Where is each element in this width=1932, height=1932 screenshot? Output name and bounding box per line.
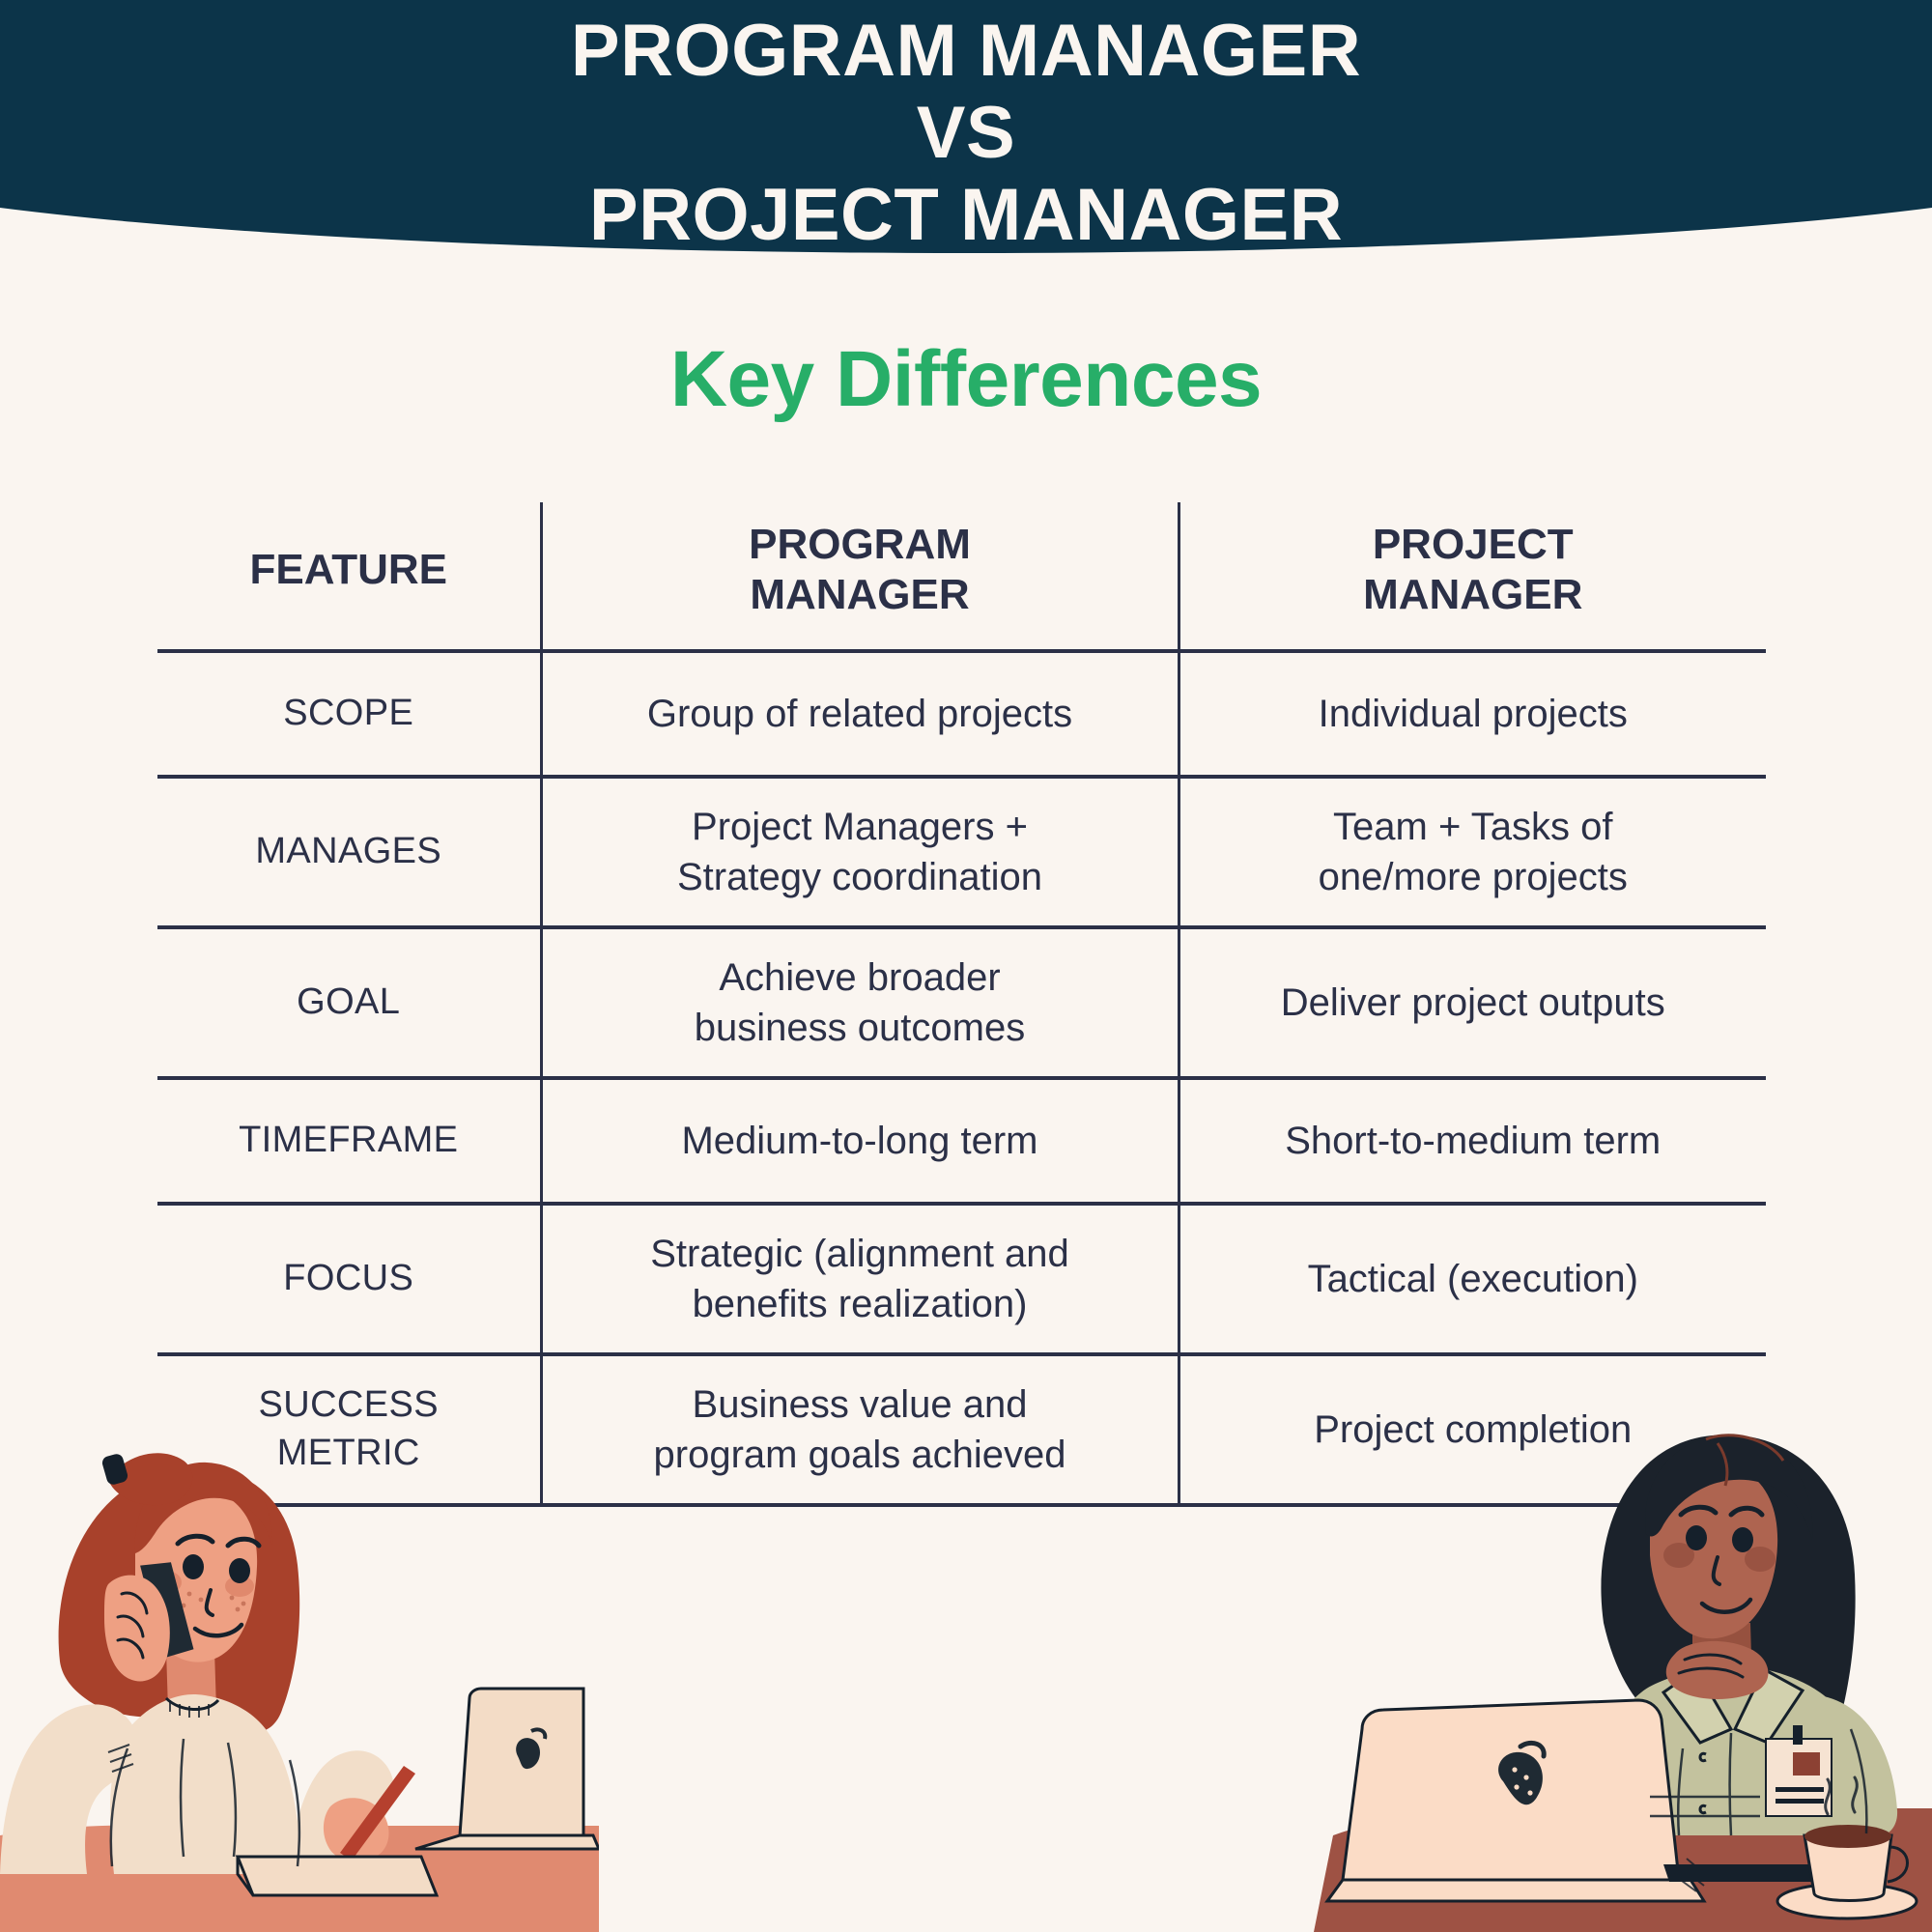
cell-program-manager: Business value and program goals achieve… <box>541 1354 1179 1505</box>
cell-text: benefits realization) <box>556 1279 1164 1329</box>
illustration-woman-at-laptop <box>1314 1410 1932 1932</box>
cell-text: program goals achieved <box>556 1430 1164 1480</box>
cell-feature: MANAGES <box>157 777 541 927</box>
cell-project-manager: Tactical (execution) <box>1179 1204 1766 1354</box>
column-header-program-line-1: PROGRAM <box>553 520 1168 570</box>
table-row: SCOPE Group of related projects Individu… <box>157 651 1766 777</box>
cell-program-manager: Project Managers + Strategy coordination <box>541 777 1179 927</box>
comparison-table: FEATURE PROGRAM MANAGER PROJECT MANAGER … <box>157 502 1766 1507</box>
title-line-3: PROJECT MANAGER <box>0 174 1932 256</box>
cell-text: business outcomes <box>556 1003 1164 1053</box>
cell-text: Deliver project outputs <box>1194 978 1753 1028</box>
cell-feature: FOCUS <box>157 1204 541 1354</box>
key-differences-table: FEATURE PROGRAM MANAGER PROJECT MANAGER … <box>157 502 1766 1507</box>
page-title: PROGRAM MANAGER VS PROJECT MANAGER <box>0 10 1932 256</box>
cell-program-manager: Medium-to-long term <box>541 1078 1179 1204</box>
table-row: MANAGES Project Managers + Strategy coor… <box>157 777 1766 927</box>
column-header-program-line-2: MANAGER <box>553 570 1168 620</box>
cell-text: Achieve broader <box>556 952 1164 1003</box>
cell-text: SCOPE <box>171 690 526 737</box>
table-body: SCOPE Group of related projects Individu… <box>157 651 1766 1505</box>
cell-feature: SCOPE <box>157 651 541 777</box>
cell-feature: GOAL <box>157 927 541 1078</box>
title-line-1: PROGRAM MANAGER <box>0 10 1932 92</box>
cell-text: Project Managers + <box>556 802 1164 852</box>
cell-text: Individual projects <box>1194 689 1753 739</box>
table-header: FEATURE PROGRAM MANAGER PROJECT MANAGER <box>157 502 1766 651</box>
cell-text: TIMEFRAME <box>171 1117 526 1164</box>
illustration-woman-on-phone <box>0 1420 599 1932</box>
subtitle: Key Differences <box>0 340 1932 419</box>
table-row: GOAL Achieve broader business outcomes D… <box>157 927 1766 1078</box>
cell-text: Medium-to-long term <box>556 1116 1164 1166</box>
cell-project-manager: Short-to-medium term <box>1179 1078 1766 1204</box>
column-header-project-line-1: PROJECT <box>1190 520 1757 570</box>
column-header-feature-line-1: FEATURE <box>167 545 530 595</box>
column-header-project-line-2: MANAGER <box>1190 570 1757 620</box>
cell-text: Strategy coordination <box>556 852 1164 902</box>
table-row: FOCUS Strategic (alignment and benefits … <box>157 1204 1766 1354</box>
cell-text: Strategic (alignment and <box>556 1229 1164 1279</box>
column-header-feature: FEATURE <box>157 502 541 651</box>
cell-text: FOCUS <box>171 1255 526 1302</box>
cell-text: Business value and <box>556 1379 1164 1430</box>
column-header-program-manager: PROGRAM MANAGER <box>541 502 1179 651</box>
cell-project-manager: Deliver project outputs <box>1179 927 1766 1078</box>
cell-text: Team + Tasks of <box>1194 802 1753 852</box>
cell-text: MANAGES <box>171 828 526 875</box>
table-header-row: FEATURE PROGRAM MANAGER PROJECT MANAGER <box>157 502 1766 651</box>
cell-text: Tactical (execution) <box>1194 1254 1753 1304</box>
cell-program-manager: Achieve broader business outcomes <box>541 927 1179 1078</box>
cell-project-manager: Individual projects <box>1179 651 1766 777</box>
cell-text: Short-to-medium term <box>1194 1116 1753 1166</box>
table-row: TIMEFRAME Medium-to-long term Short-to-m… <box>157 1078 1766 1204</box>
cell-text: Group of related projects <box>556 689 1164 739</box>
cell-project-manager: Team + Tasks of one/more projects <box>1179 777 1766 927</box>
cell-text: GOAL <box>171 979 526 1026</box>
cell-feature: TIMEFRAME <box>157 1078 541 1204</box>
cell-program-manager: Group of related projects <box>541 651 1179 777</box>
cell-program-manager: Strategic (alignment and benefits realiz… <box>541 1204 1179 1354</box>
cell-text: one/more projects <box>1194 852 1753 902</box>
title-line-2: VS <box>0 92 1932 174</box>
column-header-project-manager: PROJECT MANAGER <box>1179 502 1766 651</box>
